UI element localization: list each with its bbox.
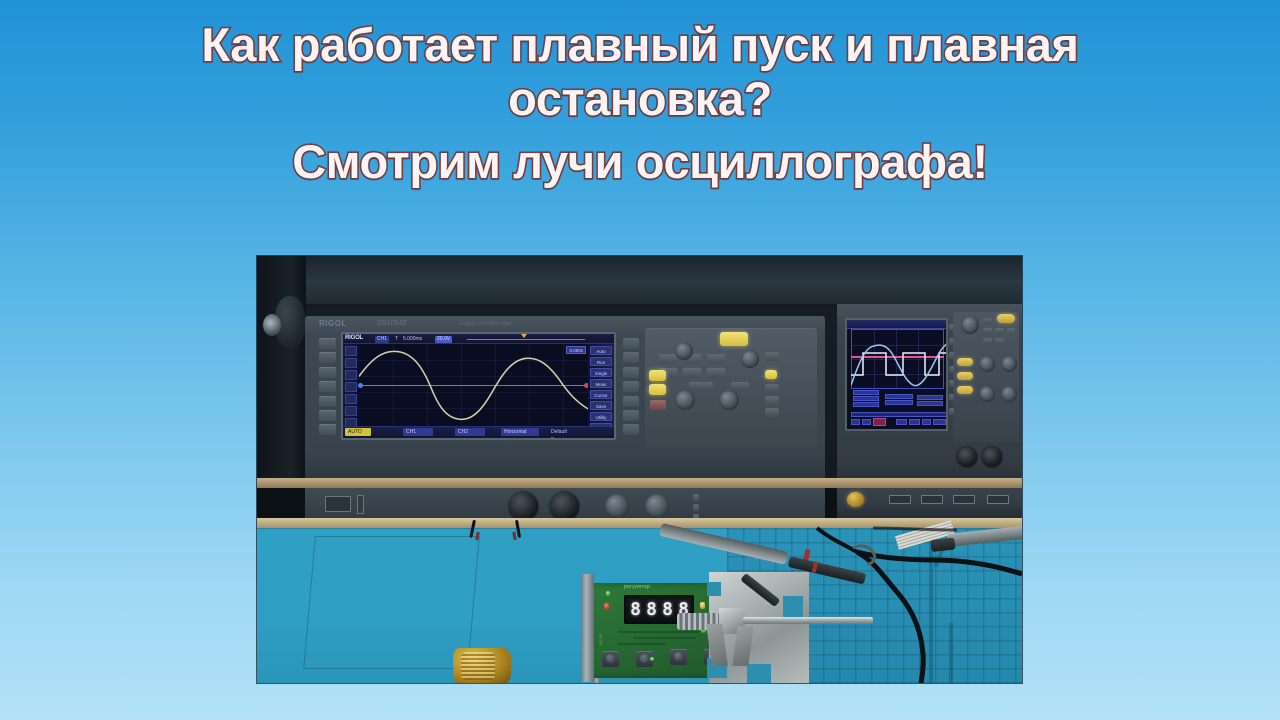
right-vertical-knob-1[interactable] (979, 356, 995, 372)
right-bnc-2[interactable] (982, 447, 1002, 467)
display-digit-3: 8 (662, 601, 672, 619)
right-screen-sine-waveform (851, 329, 948, 389)
brass-fitting-threads (461, 652, 495, 680)
status-led-green (606, 591, 610, 596)
menu-item-run[interactable]: Run (590, 357, 612, 366)
trigger-position-marker (521, 334, 527, 338)
trigger-knob-base[interactable] (605, 494, 629, 518)
bottom-item-default-save: Default Save (548, 428, 582, 436)
clamp-rod (743, 617, 873, 624)
left-screen-left-menu (343, 344, 359, 426)
auto-button[interactable] (765, 370, 777, 379)
left-scope-screen: RIGOL CH1 T 5.000ms 20.0V (341, 332, 616, 440)
right-screen-topbar (847, 320, 946, 329)
probe-3-collar (930, 538, 955, 552)
left-screen-topbar: RIGOL CH1 T 5.000ms 20.0V (343, 334, 614, 344)
vertical-position-knob[interactable] (675, 342, 693, 360)
right-scope-screen (845, 318, 948, 431)
rigol-logo: RIGOL (345, 335, 363, 341)
left-scope-subtitle-label: Digital Oscilloscope (459, 321, 511, 327)
right-bnc-1[interactable] (957, 447, 977, 467)
right-scope-control-panel[interactable] (953, 312, 1019, 442)
left-scope-model-label: DS1054Z (377, 320, 407, 327)
knob-highlight (263, 314, 281, 336)
right-channel-2-button[interactable] (957, 372, 973, 380)
run-stop-button[interactable] (720, 332, 748, 346)
shelf-left-panel (257, 256, 306, 482)
left-oscilloscope: RIGOL DS1054Z Digital Oscilloscope RIGOL… (305, 316, 825, 486)
horizontal-scale-knob[interactable] (719, 390, 739, 410)
right-channel-1-button[interactable] (957, 358, 973, 366)
multipurpose-knob[interactable] (645, 494, 669, 518)
power-button[interactable] (847, 492, 864, 507)
pcb-standoff-bottom (594, 678, 600, 683)
title-line-3: Смотрим лучи осциллографа! (0, 135, 1280, 189)
left-screen-volts-div: 20.0V (435, 336, 452, 343)
right-vertical-knob-2[interactable] (1001, 356, 1017, 372)
menu-item-cursor[interactable]: Cursor (590, 390, 612, 399)
menu-item-save[interactable]: Save (590, 401, 612, 410)
left-scope-control-panel[interactable] (645, 328, 817, 448)
title-line-2: остановка? (0, 72, 1280, 126)
right-multipurpose-knob[interactable] (961, 316, 979, 334)
channel-2-button[interactable] (649, 384, 666, 395)
pcb-silkscreen-label: регулятор (624, 584, 650, 590)
left-screen-channel-chip: CH1 (375, 336, 389, 343)
left-scope-right-softkeys[interactable] (623, 338, 639, 439)
left-screen-timebase: 5.000ms (403, 336, 422, 342)
right-horizontal-knob-1[interactable] (979, 386, 995, 402)
left-screen-waveform-area: 0.000s (359, 344, 588, 426)
bottom-item-auto: AUTO (345, 428, 371, 436)
right-screen-active-measurement (873, 418, 886, 426)
vertical-scale-knob[interactable] (675, 390, 695, 410)
bottom-item-ch1: CH1 (403, 428, 433, 436)
workbench-photo: RIGOL DS1054Z Digital Oscilloscope RIGOL… (257, 256, 1022, 683)
bnc-connector-ch2[interactable] (550, 492, 579, 521)
right-horizontal-knob-2[interactable] (1001, 386, 1017, 402)
menu-item-meas[interactable]: Meas (590, 379, 612, 388)
left-screen-cursor-readout: 0.000s (566, 346, 586, 354)
trigger-level-knob[interactable] (741, 350, 759, 368)
bnc-connector-ch1[interactable] (509, 492, 538, 521)
menu-item-auto[interactable]: Auto (590, 346, 612, 355)
right-oscilloscope (837, 304, 1022, 489)
display-digit-2: 8 (646, 601, 656, 619)
left-scope-brand-label: RIGOL (319, 319, 347, 328)
shelf-top-lip (303, 256, 1022, 304)
cursor-time-value: 0.000s (569, 348, 583, 353)
shelf-wood-edge (257, 478, 1022, 488)
aux-port[interactable] (357, 495, 364, 514)
menu-item-utility[interactable]: Utility (590, 412, 612, 421)
left-screen-right-menu: Auto Run Single Meas Cursor Save Utility… (588, 344, 614, 426)
video-thumbnail-frame: Как работает плавный пуск и плавная оста… (0, 0, 1280, 720)
status-led-yellow (700, 602, 705, 609)
left-screen-trigger-symbol: T (395, 336, 398, 342)
channel-1-button[interactable] (649, 370, 666, 381)
left-scope-left-softkeys[interactable] (319, 338, 336, 439)
left-screen-bottom-bar: AUTO CH1 CH2 Horizontal Default Save (343, 426, 614, 438)
bottom-item-ch2: CH2 (455, 428, 485, 436)
menu-item-single[interactable]: Single (590, 368, 612, 377)
left-screen-sine-waveform (359, 344, 588, 426)
display-digit-1: 8 (630, 601, 640, 619)
usb-port[interactable] (325, 496, 351, 512)
right-math-button[interactable] (957, 386, 973, 394)
right-run-stop-button[interactable] (997, 314, 1015, 323)
right-screen-measurement-panel (849, 390, 944, 426)
title-overlay: Как работает плавный пуск и плавная оста… (0, 18, 1280, 189)
pcb-button-3[interactable] (670, 649, 687, 665)
title-line-1: Как работает плавный пуск и плавная (0, 18, 1280, 72)
bottom-item-horizontal: Horizontal (501, 428, 539, 436)
math-button[interactable] (650, 400, 666, 410)
channel-1-ground-marker (358, 383, 363, 388)
power-led-red (604, 603, 609, 610)
pcb-button-1[interactable] (602, 651, 619, 667)
pcb-standoff-left (581, 574, 594, 682)
